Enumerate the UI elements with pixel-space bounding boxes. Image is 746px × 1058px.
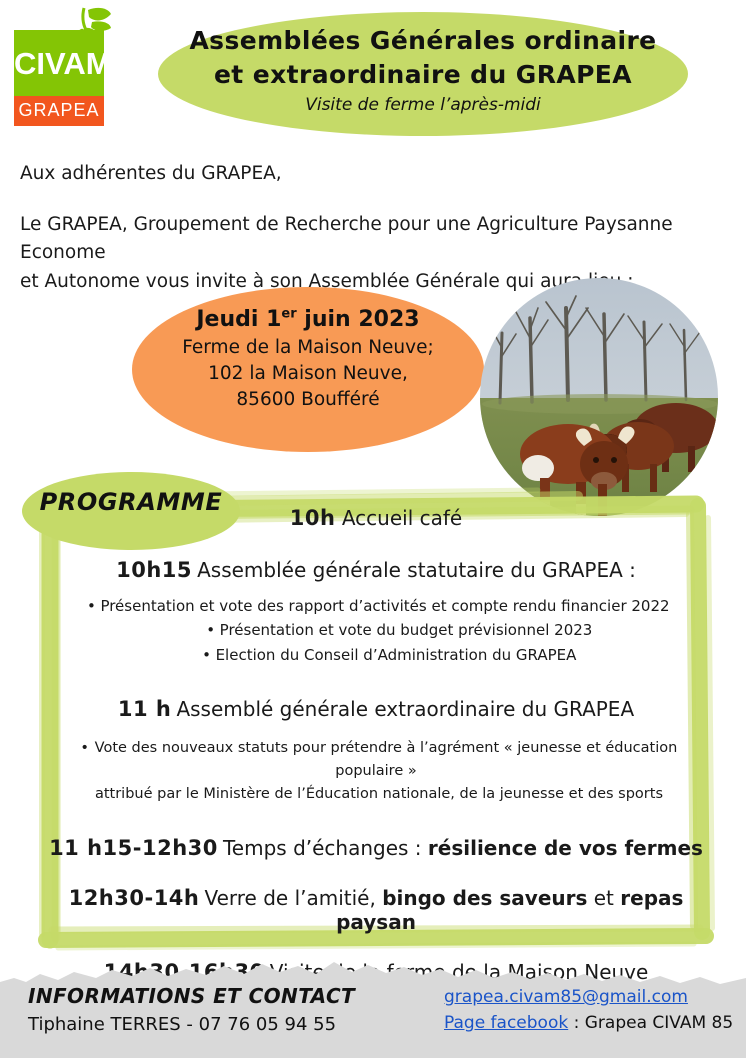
event-details: Jeudi 1er juin 2023 Ferme de la Maison N… xyxy=(140,306,476,413)
programme-slot-11h: 11 h Assemblé générale extraordinaire du… xyxy=(46,697,706,721)
slot-accent: résilience de vos fermes xyxy=(428,836,703,860)
list-item: •Présentation et vote du budget prévisio… xyxy=(46,618,706,642)
bullet-icon: • xyxy=(75,737,95,760)
intro-text: Aux adhérentes du GRAPEA, Le GRAPEA, Gro… xyxy=(20,160,730,297)
facebook-link[interactable]: Page facebook xyxy=(444,1013,568,1033)
programme-slot-10h15: 10h15 Assemblée générale statutaire du G… xyxy=(46,558,706,582)
poster-page: CIVAM GRAPEA Assemblées Générales ordina… xyxy=(0,0,746,1058)
intro-salutation: Aux adhérentes du GRAPEA, xyxy=(20,160,730,189)
slot-time: 10h15 xyxy=(116,558,192,582)
programme-statutes-note: •Vote des nouveaux statuts pour prétendr… xyxy=(46,737,706,807)
footer-contact-block: INFORMATIONS ET CONTACT Tiphaine TERRES … xyxy=(28,984,355,1035)
slot-time: 12h30-14h xyxy=(69,886,200,910)
programme-slot-12h30: 12h30-14h Verre de l’amitié, bingo des s… xyxy=(46,886,706,934)
slot-time: 10h xyxy=(290,506,336,530)
civam-grapea-logo: CIVAM GRAPEA xyxy=(14,6,110,124)
cows-in-pasture-photo xyxy=(480,278,718,516)
event-date-prefix: Jeudi 1 xyxy=(196,307,281,332)
logo-grapea-text: GRAPEA xyxy=(14,101,104,119)
slot-text-after: et xyxy=(587,886,620,910)
slot-text: Assemblé générale extraordinaire du GRAP… xyxy=(176,697,634,721)
footer-contact-name: Tiphaine TERRES - 07 76 05 94 55 xyxy=(28,1014,355,1035)
programme-content: 10h Accueil café 10h15 Assemblée général… xyxy=(46,498,706,984)
note-line-2: attribué par le Ministère de l’Éducation… xyxy=(46,783,706,806)
title-subtitle: Visite de ferme l’après-midi xyxy=(170,95,676,115)
list-item: •Présentation et vote des rapport d’acti… xyxy=(46,594,706,618)
event-date-ordinal: er xyxy=(281,307,296,322)
slot-text: Temps d’échanges : xyxy=(223,836,428,860)
footer: INFORMATIONS ET CONTACT Tiphaine TERRES … xyxy=(0,960,746,1058)
bullet-icon: • xyxy=(198,643,216,667)
footer-title: INFORMATIONS ET CONTACT xyxy=(28,984,355,1008)
slot-accent: bingo des saveurs xyxy=(382,886,587,910)
programme-slot-10h: 10h Accueil café xyxy=(46,506,706,530)
poster-title: Assemblées Générales ordinaire et extrao… xyxy=(170,24,676,115)
slot-text: Assemblée générale statutaire du GRAPEA … xyxy=(197,558,636,582)
list-item-label: Présentation et vote du budget prévision… xyxy=(220,621,593,639)
event-city: 85600 Boufféré xyxy=(140,387,476,413)
programme-bullet-list: •Présentation et vote des rapport d’acti… xyxy=(46,594,706,667)
list-item-label: Election du Conseil d’Administration du … xyxy=(216,646,577,664)
slot-time: 11 h xyxy=(118,697,172,721)
slot-text: Verre de l’amitié, xyxy=(204,886,382,910)
list-item-label: Présentation et vote des rapport d’activ… xyxy=(100,597,669,615)
facebook-page-name: : Grapea CIVAM 85 xyxy=(568,1013,733,1033)
event-venue: Ferme de la Maison Neuve; xyxy=(140,335,476,361)
bullet-icon: • xyxy=(202,618,220,642)
intro-paragraph-line-1: Le GRAPEA, Groupement de Recherche pour … xyxy=(20,211,730,268)
footer-links-block: grapea.civam85@gmail.com Page facebook :… xyxy=(444,987,733,1033)
programme-slot-11h15: 11 h15-12h30 Temps d’échanges : résilien… xyxy=(46,836,706,860)
event-date: Jeudi 1er juin 2023 xyxy=(140,306,476,335)
slot-time: 11 h15-12h30 xyxy=(49,836,218,860)
logo-civam-text: CIVAM xyxy=(14,48,104,79)
bullet-icon: • xyxy=(82,594,100,618)
event-street: 102 la Maison Neuve, xyxy=(140,361,476,387)
title-line-1: Assemblées Générales ordinaire xyxy=(170,24,676,58)
event-date-suffix: juin 2023 xyxy=(297,307,420,332)
list-item: •Election du Conseil d’Administration du… xyxy=(46,643,706,667)
title-line-2: et extraordinaire du GRAPEA xyxy=(170,58,676,92)
facebook-link-row: Page facebook : Grapea CIVAM 85 xyxy=(444,1013,733,1033)
email-link[interactable]: grapea.civam85@gmail.com xyxy=(444,987,688,1007)
email-link-row: grapea.civam85@gmail.com xyxy=(444,987,733,1007)
note-line-1: Vote des nouveaux statuts pour prétendre… xyxy=(95,740,678,779)
intro-spacer xyxy=(20,189,730,211)
slot-text: Accueil café xyxy=(342,506,462,530)
